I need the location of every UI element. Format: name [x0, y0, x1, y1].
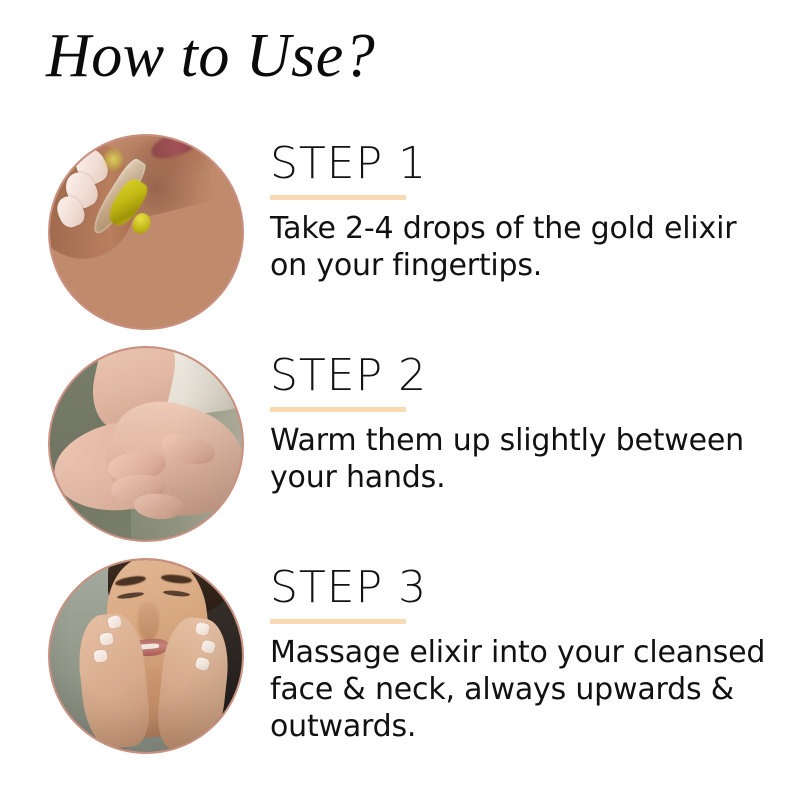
step-1-underline — [270, 195, 406, 200]
step-3-text: STEP 3 Massage elixir into your cleansed… — [270, 566, 780, 746]
step-3-photo — [48, 558, 244, 754]
how-to-use-infographic: How to Use? — [0, 0, 800, 800]
step-item: STEP 2 Warm them up slightly between you… — [0, 340, 800, 552]
step-1-text: STEP 1 Take 2-4 drops of the gold elixir… — [270, 142, 780, 284]
step-1-heading: STEP 1 — [270, 142, 780, 186]
step-1-body: Take 2-4 drops of the gold elixir on you… — [270, 210, 780, 284]
oil-highlight — [104, 148, 123, 171]
step-item: STEP 3 Massage elixir into your cleansed… — [0, 552, 800, 772]
step-2-body: Warm them up slightly between your hands… — [270, 422, 780, 496]
hands-rubbing-image — [50, 348, 242, 540]
steps-list: STEP 1 Take 2-4 drops of the gold elixir… — [0, 128, 800, 772]
step-3-heading: STEP 3 — [270, 566, 780, 610]
step-2-photo — [48, 346, 244, 542]
step-3-underline — [270, 619, 406, 624]
step-3-body: Massage elixir into your cleansed face &… — [270, 634, 780, 746]
step-2-text: STEP 2 Warm them up slightly between you… — [270, 354, 780, 496]
step-1-photo — [48, 134, 244, 330]
face-massage-image — [50, 560, 242, 752]
vignette — [50, 560, 242, 752]
dropper-elixir-image — [50, 136, 242, 328]
page-title: How to Use? — [46, 22, 375, 90]
step-2-heading: STEP 2 — [270, 354, 780, 398]
step-2-underline — [270, 407, 406, 412]
step-item: STEP 1 Take 2-4 drops of the gold elixir… — [0, 128, 800, 340]
vignette — [50, 348, 242, 540]
